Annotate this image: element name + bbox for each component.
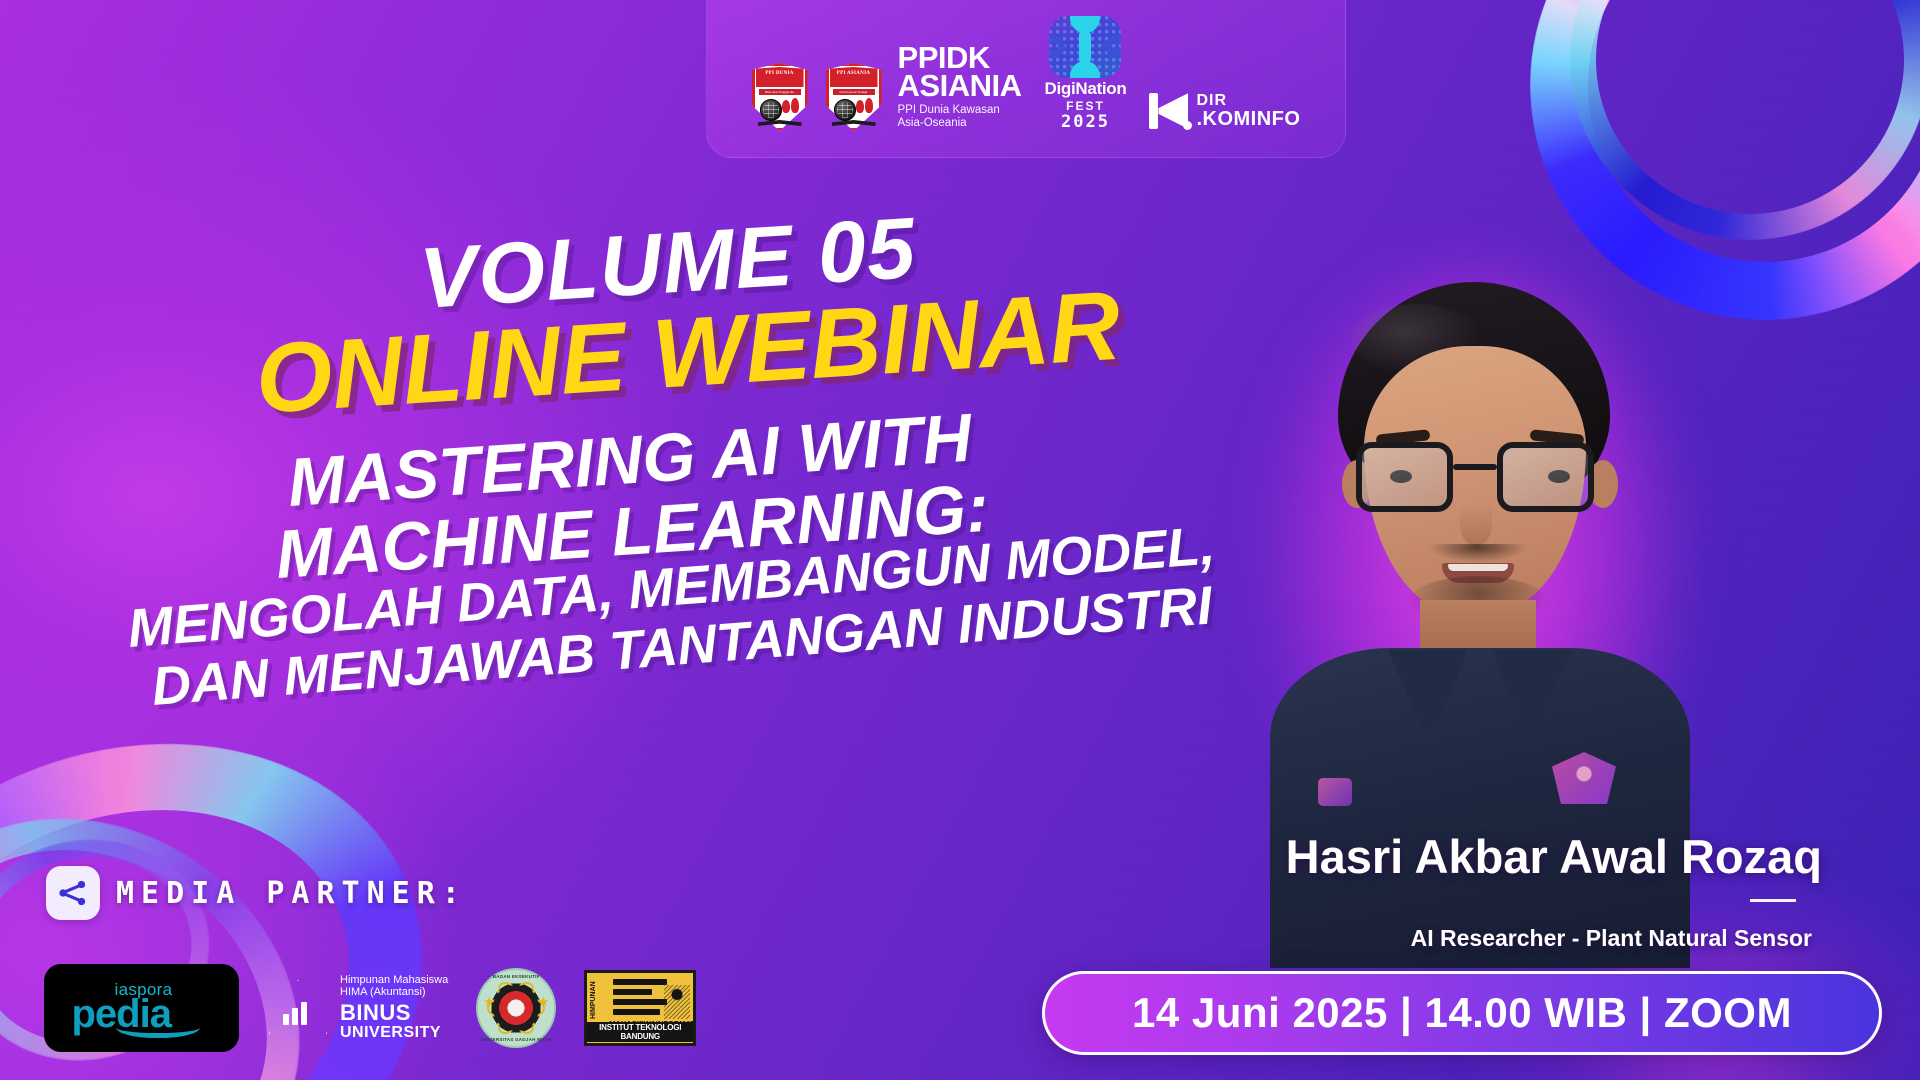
event-details-banner: 14 Juni 2025 | 14.00 WIB | ZOOM <box>1042 971 1882 1055</box>
ppi-asiania-shield-icon: PPI ASIANIA Perhimpunan Pelajar <box>826 63 882 131</box>
binus-line1: Himpunan Mahasiswa <box>340 974 448 987</box>
speaker-name: Hasri Akbar Awal Rozaq <box>1286 829 1822 884</box>
diginaiton-fest-label: FEST <box>1039 99 1131 113</box>
share-network-icon <box>46 866 100 920</box>
binus-name: BINUS <box>340 1001 448 1024</box>
media-partner-header: MEDIA PARTNER: <box>46 866 467 920</box>
event-details-text: 14 Juni 2025 | 14.00 WIB | ZOOM <box>1132 989 1792 1037</box>
webinar-poster: PPI DUNIA Bhinneka Tunggal Ika PPI ASIAN… <box>0 0 1920 1080</box>
diginaiton-mark-icon <box>1049 16 1121 78</box>
speaker-role: AI Researcher - Plant Natural Sensor <box>1411 925 1812 952</box>
kominfo-line2: .KOMINFO <box>1196 109 1300 129</box>
kominfo-k-icon <box>1149 91 1189 131</box>
seal-ring-top: BADAN EKSEKUTIF <box>478 974 554 979</box>
speaker-nose <box>1460 504 1492 546</box>
logo-hmif-itb: HIMPUNAN MAHASISWA INFORMATIKA INSTITUT … <box>584 970 696 1046</box>
headline-block: VOLUME 05 ONLINE WEBINAR MASTERING AI WI… <box>0 230 1180 718</box>
binus-line2: HIMA (Akuntansi) <box>340 986 448 999</box>
binus-triangle-icon <box>267 978 329 1038</box>
shield-title-ppi-asiania: PPI ASIANIA <box>830 67 878 87</box>
diginaiton-name: DigiNation <box>1039 80 1131 97</box>
ppidk-subtitle-line1: PPI Dunia Kawasan <box>898 104 1022 118</box>
shield-title-ppi-dunia: PPI DUNIA <box>756 67 804 87</box>
speaker-shirt <box>1270 648 1690 968</box>
logo-university-seal: ★★ BADAN EKSEKUTIF UNIVERSITAS GADJAH MA… <box>476 968 556 1048</box>
diginaiton-year: 2025 <box>1039 114 1131 131</box>
hmif-vertical-text: HIMPUNAN <box>590 977 612 1023</box>
media-partner-label: MEDIA PARTNER: <box>116 876 467 911</box>
media-partner-logos: iaspora pedia Himpunan Mahasiswa HIMA (A… <box>44 964 696 1052</box>
logo-binus-university: Himpunan Mahasiswa HIMA (Akuntansi) BINU… <box>267 974 448 1043</box>
diasporapedia-smile-icon <box>116 1016 200 1038</box>
ganesha-icon <box>664 985 690 1019</box>
kominfo-line1: DIR <box>1196 93 1300 109</box>
shield-motto-ppi-asiania: Perhimpunan Pelajar <box>833 89 875 95</box>
speaker-shirt-patch <box>1318 778 1352 806</box>
seal-ring-bottom: UNIVERSITAS GADJAH MADA <box>478 1037 554 1042</box>
hmif-bottom-text: INSTITUT TEKNOLOGI BANDUNG <box>587 1022 693 1042</box>
logo-diasporapedia: iaspora pedia <box>44 964 239 1052</box>
dir-kominfo-logo: DIR .KOMINFO <box>1149 91 1300 131</box>
shield-motto-ppi-dunia: Bhinneka Tunggal Ika <box>759 89 801 95</box>
ppidk-asiania-wordmark: PPIDK ASIANIA PPI Dunia Kawasan Asia-Ose… <box>898 44 1022 131</box>
ppidk-line2: ASIANIA <box>898 72 1022 101</box>
binus-university-label: UNIVERSITY <box>340 1024 448 1042</box>
ppidk-subtitle-line2: Asia-Oseania <box>898 117 1022 131</box>
speaker-moustache <box>1430 544 1526 562</box>
ppi-dunia-shield-icon: PPI DUNIA Bhinneka Tunggal Ika <box>752 63 808 131</box>
speaker-divider <box>1750 899 1796 902</box>
header-logo-bar: PPI DUNIA Bhinneka Tunggal Ika PPI ASIAN… <box>706 0 1346 158</box>
diginaiton-fest-logo: DigiNation FEST 2025 <box>1039 16 1131 131</box>
